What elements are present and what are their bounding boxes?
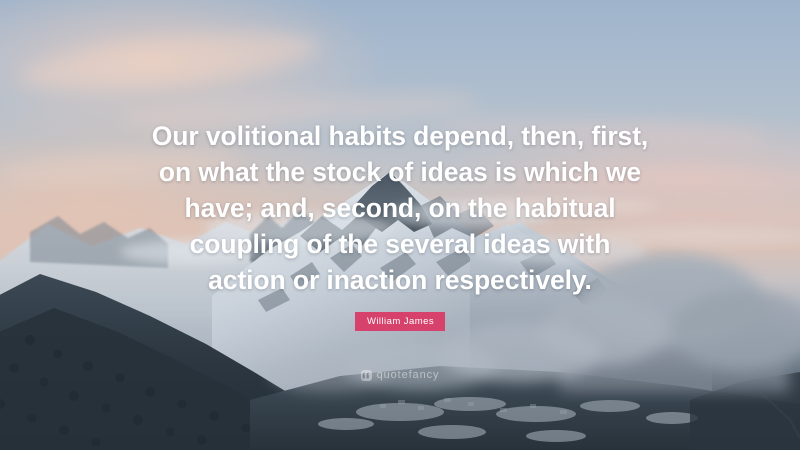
quote-line: on what the stock of ideas is which we [86,154,714,190]
watermark: quotefancy [0,366,800,384]
author-name-badge[interactable]: William James [355,312,445,331]
quote-text: Our volitional habits depend, then, firs… [0,118,800,298]
quote-mark-badge-icon [361,370,372,381]
watermark-inner[interactable]: quotefancy [361,370,440,381]
quote-line: have; and, second, on the habitual [86,190,714,226]
quote-image: Our volitional habits depend, then, firs… [0,0,800,450]
watermark-text: quotefancy [377,370,440,381]
quote-line: action or inaction respectively. [86,262,714,298]
quote-line: Our volitional habits depend, then, firs… [86,118,714,154]
quote-line: coupling of the several ideas with [86,226,714,262]
author-attribution: William James [0,312,800,331]
